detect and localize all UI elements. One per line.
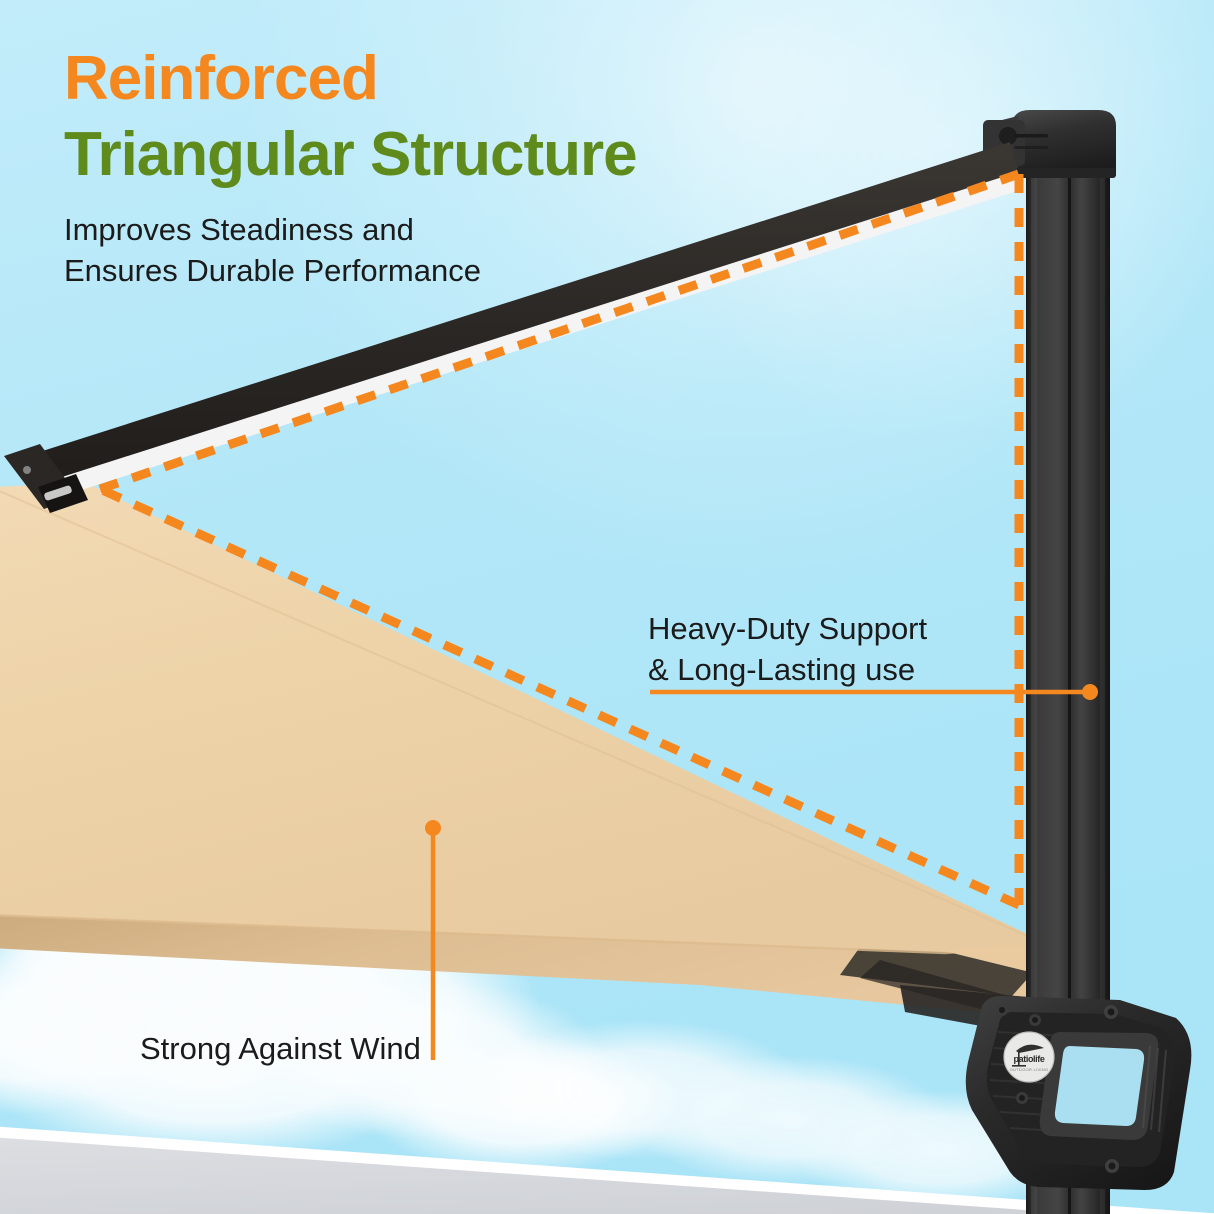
leader-dot bbox=[1082, 684, 1098, 700]
callout-strong-against-wind-label: Strong Against Wind bbox=[140, 1031, 421, 1067]
brand-badge: patiolife OUTDOOR LIVING bbox=[1004, 1032, 1054, 1082]
product-feature-graphic: patiolife OUTDOOR LIVING Reinforced Tria… bbox=[0, 0, 1214, 1214]
subheadline-line-2: Ensures Durable Performance bbox=[64, 253, 481, 289]
callout-heavy-duty-support-line-1: Heavy-Duty Support bbox=[648, 611, 927, 647]
subheadline-line-1: Improves Steadiness and bbox=[64, 212, 414, 248]
headline-line-1: Reinforced bbox=[64, 48, 378, 110]
headline-line-2: Triangular Structure bbox=[64, 124, 637, 186]
svg-text:OUTDOOR LIVING: OUTDOOR LIVING bbox=[1010, 1067, 1049, 1072]
leader-dot bbox=[425, 820, 441, 836]
callout-heavy-duty-support-line-2: & Long-Lasting use bbox=[648, 652, 915, 688]
svg-text:patiolife: patiolife bbox=[1014, 1054, 1045, 1064]
